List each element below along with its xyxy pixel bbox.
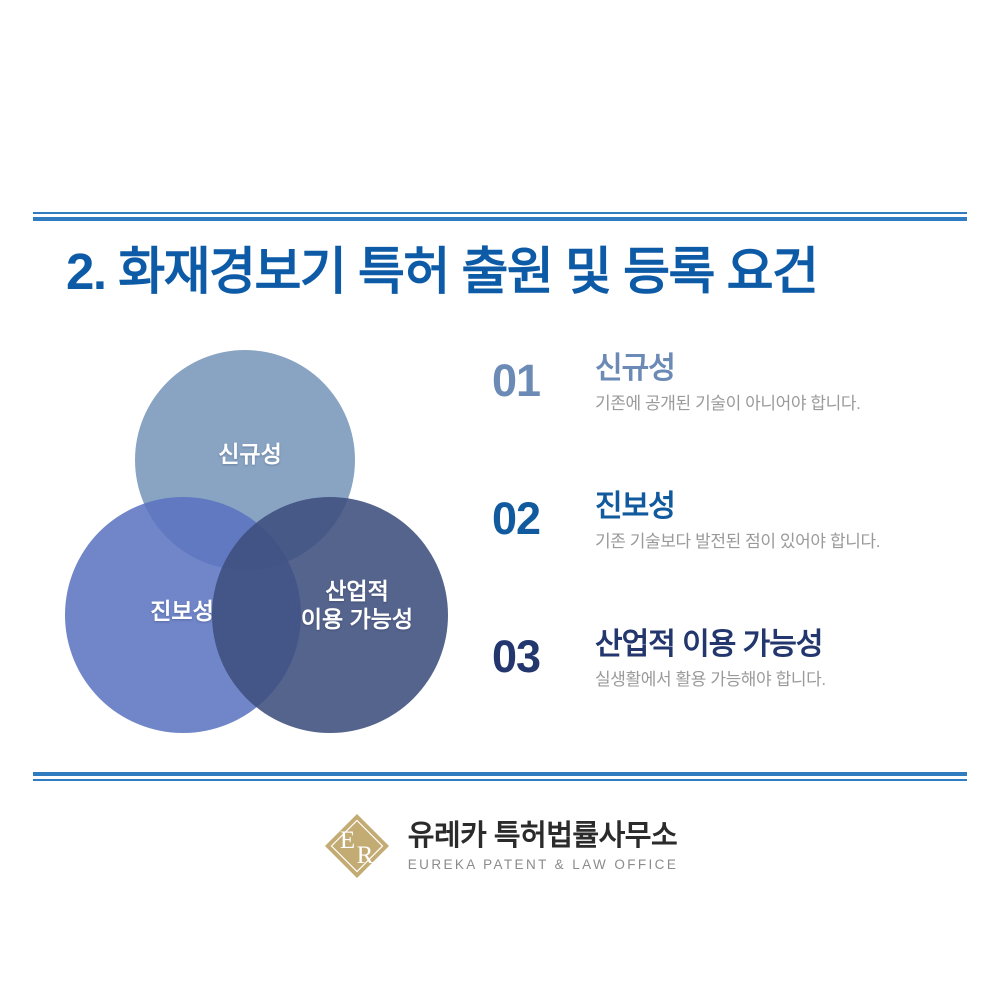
logo-monogram-r: R (356, 842, 373, 869)
requirement-number-02: 02 (492, 496, 578, 541)
requirement-item-01: 01 신규성 기존에 공개된 기술이 아니어야 합니다. (492, 352, 962, 490)
requirement-body-03: 산업적 이용 가능성 실생활에서 활용 가능해야 합니다. (595, 628, 965, 691)
footer-branding: E R 유레카 특허법률사무소 EUREKA PATENT & LAW OFFI… (0, 806, 1000, 886)
venn-diagram: 신규성 진보성 산업적 이용 가능성 (45, 345, 465, 745)
slide-canvas: 2. 화재경보기 특허 출원 및 등록 요건 신규성 진보성 산업적 이용 가능… (0, 0, 1000, 1000)
divider-bottom-thin-rule (33, 779, 967, 781)
divider-bottom (33, 772, 967, 781)
firm-name-english: EUREKA PATENT & LAW OFFICE (408, 858, 678, 873)
requirement-number-03: 03 (492, 634, 578, 679)
requirement-description-02: 기존 기술보다 발전된 점이 있어야 합니다. (595, 531, 965, 553)
footer-logo-text: 유레카 특허법률사무소 EUREKA PATENT & LAW OFFICE (408, 821, 678, 873)
requirement-description-03: 실생활에서 활용 가능해야 합니다. (595, 669, 965, 691)
requirement-item-02: 02 진보성 기존 기술보다 발전된 점이 있어야 합니다. (492, 490, 962, 628)
logo-monogram-e: E (340, 827, 355, 854)
venn-label-inventive-step: 진보성 (117, 597, 247, 625)
requirement-item-03: 03 산업적 이용 가능성 실생활에서 활용 가능해야 합니다. (492, 628, 962, 766)
venn-label-industrial-applicability: 산업적 이용 가능성 (273, 577, 441, 633)
firm-name-korean: 유레카 특허법률사무소 (408, 821, 678, 853)
divider-top (33, 212, 967, 221)
requirement-body-01: 신규성 기존에 공개된 기술이 아니어야 합니다. (595, 352, 965, 415)
venn-svg (45, 345, 465, 745)
eureka-diamond-logo-icon: E R (322, 811, 392, 881)
requirement-number-01: 01 (492, 358, 578, 403)
requirement-title-01: 신규성 (595, 352, 965, 387)
requirement-description-01: 기존에 공개된 기술이 아니어야 합니다. (595, 393, 965, 415)
venn-label-novelty: 신규성 (185, 440, 315, 468)
requirements-list: 01 신규성 기존에 공개된 기술이 아니어야 합니다. 02 진보성 기존 기… (492, 352, 962, 766)
requirement-body-02: 진보성 기존 기술보다 발전된 점이 있어야 합니다. (595, 490, 965, 553)
requirement-title-02: 진보성 (595, 490, 965, 525)
page-title: 2. 화재경보기 특허 출원 및 등록 요건 (66, 243, 966, 302)
divider-top-thick-rule (33, 217, 967, 221)
requirement-title-03: 산업적 이용 가능성 (595, 628, 965, 663)
